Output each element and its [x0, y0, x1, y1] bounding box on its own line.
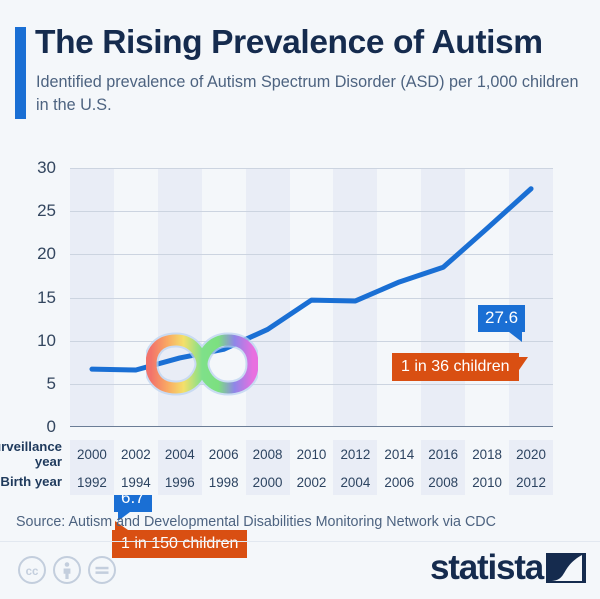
surveillance-year-cell: 2008 — [246, 440, 290, 469]
surveillance-year-cell: 2018 — [465, 440, 509, 469]
birth-year-cell: 2000 — [246, 469, 290, 495]
end-ratio-label: 1 in 36 children — [401, 358, 510, 375]
y-axis: 30 25 20 15 10 5 0 — [0, 168, 64, 427]
surveillance-year-row-label: Surveillance year — [0, 440, 70, 469]
surveillance-year-cell: 2016 — [421, 440, 465, 469]
y-tick-label: 20 — [37, 244, 56, 264]
autism-infinity-icon — [146, 328, 258, 400]
surveillance-year-cell: 2010 — [290, 440, 334, 469]
row-label-line: Birth year — [0, 475, 62, 489]
row-label-line: Surveillance — [0, 440, 62, 454]
birth-year-cell: 2006 — [377, 469, 421, 495]
footer-divider — [0, 541, 600, 542]
birth-year-cell: 1996 — [158, 469, 202, 495]
page-title: The Rising Prevalence of Autism — [35, 24, 595, 62]
end-ratio-callout: 1 in 36 children — [392, 353, 519, 381]
title-accent-bar — [15, 27, 26, 119]
statista-logo[interactable]: statista — [430, 550, 586, 585]
chart: 30 25 20 15 10 5 0 — [0, 150, 600, 440]
birth-year-cell: 2004 — [333, 469, 377, 495]
callout-tail — [509, 332, 522, 342]
birth-year-cell: 2010 — [465, 469, 509, 495]
birth-year-cell: 2012 — [509, 469, 553, 495]
birth-year-row-label: Birth year — [0, 469, 70, 495]
y-tick-label: 10 — [37, 331, 56, 351]
surveillance-year-cell: 2000 — [70, 440, 114, 469]
cc-icon[interactable]: cc — [17, 555, 47, 585]
birth-year-cell: 2002 — [290, 469, 334, 495]
x-axis: Surveillance year 2000200220042006200820… — [0, 440, 600, 495]
cc-nd-icon[interactable] — [87, 555, 117, 585]
surveillance-year-cell: 2006 — [202, 440, 246, 469]
end-value-label: 27.6 — [485, 308, 518, 327]
surveillance-year-cells: 2000200220042006200820102012201420162018… — [70, 440, 553, 469]
birth-year-row: Birth year 19921994199619982000200220042… — [0, 469, 600, 495]
page-subtitle: Identified prevalence of Autism Spectrum… — [36, 71, 581, 117]
birth-year-cell: 1992 — [70, 469, 114, 495]
end-value-callout: 27.6 — [478, 305, 525, 332]
surveillance-year-cell: 2014 — [377, 440, 421, 469]
source-note: Source: Autism and Developmental Disabil… — [16, 514, 496, 530]
row-label-line: year — [35, 455, 62, 469]
surveillance-year-cell: 2012 — [333, 440, 377, 469]
surveillance-year-cell: 2002 — [114, 440, 158, 469]
surveillance-year-row: Surveillance year 2000200220042006200820… — [0, 440, 600, 469]
statista-mark-icon — [546, 553, 586, 583]
birth-year-cell: 2008 — [421, 469, 465, 495]
y-tick-label: 25 — [37, 201, 56, 221]
plot-area — [70, 168, 553, 427]
y-tick-label: 30 — [37, 158, 56, 178]
data-line — [70, 168, 553, 427]
start-ratio-label: 1 in 150 children — [121, 535, 238, 552]
svg-text:cc: cc — [26, 566, 39, 578]
license-icons[interactable]: cc — [17, 555, 117, 585]
infographic-root: The Rising Prevalence of Autism Identifi… — [0, 0, 600, 599]
birth-year-cell: 1998 — [202, 469, 246, 495]
surveillance-year-cell: 2004 — [158, 440, 202, 469]
birth-year-cell: 1994 — [114, 469, 158, 495]
birth-year-cells: 1992199419961998200020022004200620082010… — [70, 469, 553, 495]
header: The Rising Prevalence of Autism Identifi… — [0, 0, 600, 130]
callout-tail — [519, 357, 528, 370]
cc-by-icon[interactable] — [52, 555, 82, 585]
surveillance-year-cell: 2020 — [509, 440, 553, 469]
y-tick-label: 5 — [47, 374, 56, 394]
statista-wordmark: statista — [430, 550, 543, 585]
y-tick-label: 0 — [47, 417, 56, 437]
y-tick-label: 15 — [37, 288, 56, 308]
start-ratio-callout: 1 in 150 children — [112, 530, 247, 558]
